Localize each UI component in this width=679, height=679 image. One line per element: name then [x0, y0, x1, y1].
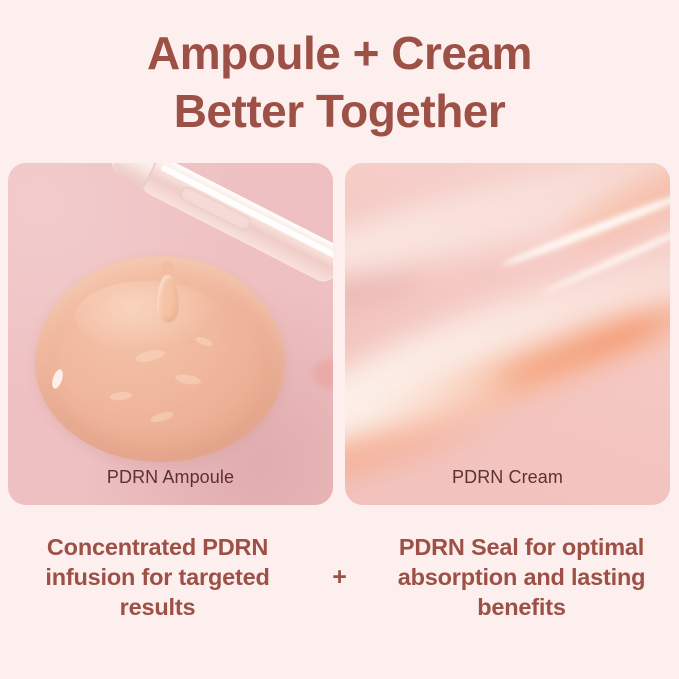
plus-separator-icon: + [307, 532, 372, 592]
gel-micro-streak [110, 391, 133, 401]
benefit-text-right: PDRN Seal for optimal absorption and las… [372, 532, 671, 622]
page-title: Ampoule + Cream Better Together [0, 24, 679, 140]
gel-micro-streak [174, 373, 201, 386]
gel-micro-streak [194, 335, 213, 348]
panel-caption-ampoule: PDRN Ampoule [8, 466, 333, 488]
benefit-text-left: Concentrated PDRN infusion for targeted … [8, 532, 307, 622]
gel-micro-streak [149, 409, 174, 423]
page-title-line-1: Ampoule + Cream [0, 24, 679, 82]
gel-highlight-speck [50, 368, 65, 390]
benefits-row: Concentrated PDRN infusion for targeted … [8, 532, 671, 652]
product-image-panels: PDRN Ampoule PDRN Cream [8, 163, 671, 505]
panel-caption-cream: PDRN Cream [345, 466, 670, 488]
serum-droplet [157, 275, 179, 323]
panel-pdrn-ampoule: PDRN Ampoule [8, 163, 333, 505]
page-title-line-2: Better Together [0, 82, 679, 140]
panel-pdrn-cream: PDRN Cream [345, 163, 670, 505]
